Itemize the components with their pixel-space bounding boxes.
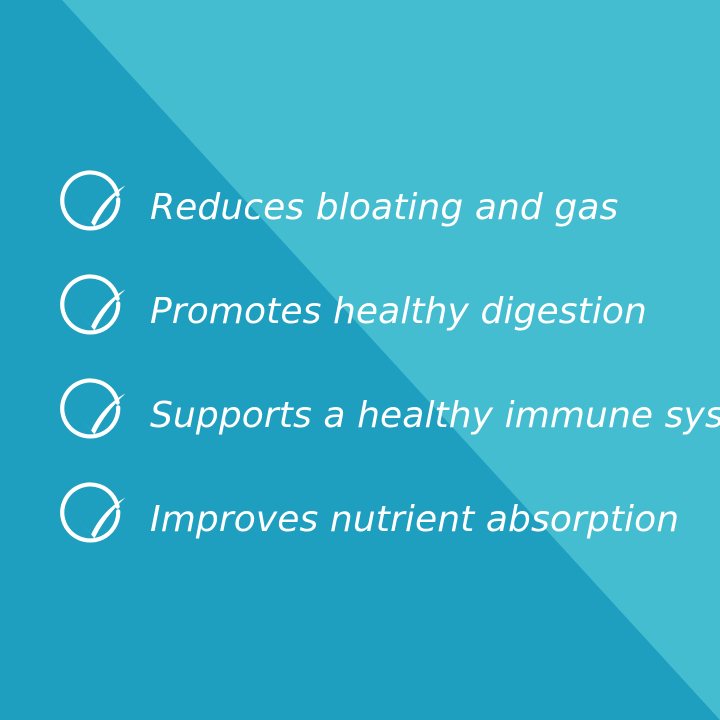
benefit-item: Improves nutrient absorption [62, 492, 679, 550]
circle-check-icon [62, 388, 128, 446]
benefit-item: Promotes healthy digestion [62, 284, 647, 342]
benefit-label: Reduces bloating and gas [150, 190, 618, 226]
circle-check-icon [62, 180, 128, 238]
benefit-item: Supports a healthy immune system [62, 388, 720, 446]
benefit-label: Promotes healthy digestion [150, 294, 647, 330]
benefits-graphic: Reduces bloating and gas Promotes health… [0, 0, 720, 720]
circle-check-icon [62, 492, 128, 550]
benefit-item: Reduces bloating and gas [62, 180, 618, 238]
benefit-label: Supports a healthy immune system [150, 398, 720, 434]
circle-check-icon [62, 284, 128, 342]
benefit-label: Improves nutrient absorption [150, 502, 679, 538]
benefits-list: Reduces bloating and gas Promotes health… [0, 0, 720, 720]
